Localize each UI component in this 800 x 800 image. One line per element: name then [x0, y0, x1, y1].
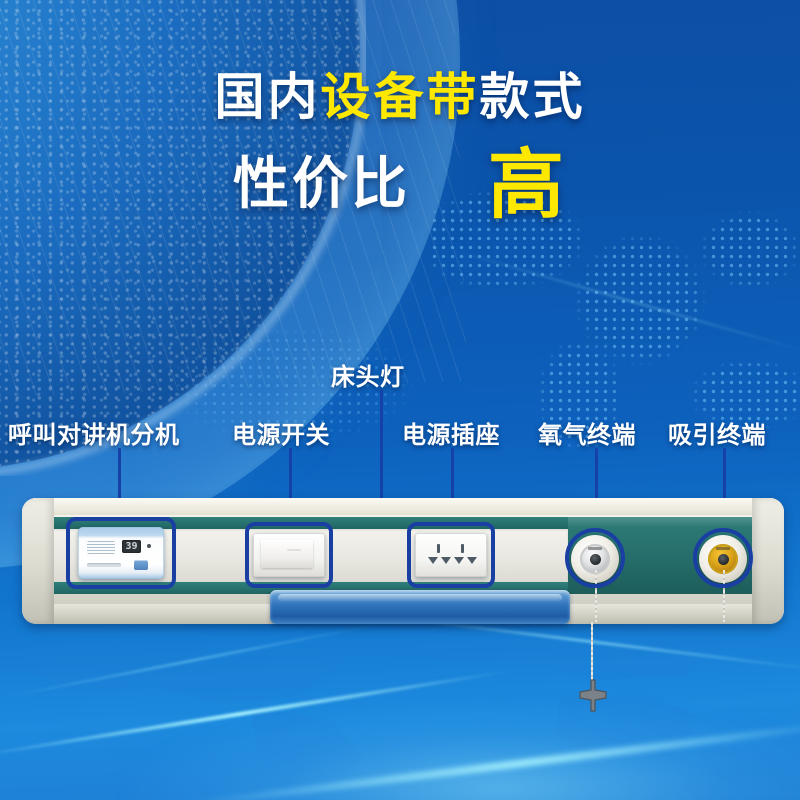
- highlight-circle-oxygen: [565, 528, 625, 588]
- panel-top-highlight: [22, 498, 784, 515]
- callout-label-suction-terminal: 吸引终端: [668, 415, 766, 450]
- highlight-box-intercom: [66, 517, 176, 589]
- highlight-box-power-switch: [245, 522, 333, 588]
- callout-label-power-switch: 电源开关: [232, 415, 330, 450]
- poster-canvas: 国内设备带款式 性价比高 呼叫对讲机分机 电源开关 床头灯 电源插座 氧气终端 …: [0, 0, 800, 800]
- callout-label-intercom: 呼叫对讲机分机: [8, 415, 180, 450]
- pull-cord-pendant-icon[interactable]: [576, 678, 610, 712]
- highlight-box-power-outlet: [407, 522, 495, 588]
- rail-gloss-highlight: [278, 594, 562, 602]
- panel-end-cap-left: [22, 498, 54, 624]
- panel-teal-block-highlight: [568, 517, 774, 527]
- highlight-circle-suction: [693, 528, 753, 588]
- callout-label-bed-lamp: 床头灯: [331, 357, 405, 392]
- callout-layer: 呼叫对讲机分机 电源开关 床头灯 电源插座 氧气终端 吸引终端: [0, 0, 800, 800]
- panel-end-cap-right: [752, 498, 784, 624]
- callout-label-oxygen-terminal: 氧气终端: [538, 415, 636, 450]
- callout-label-power-outlet: 电源插座: [402, 415, 500, 450]
- pull-cord-extension: [591, 622, 593, 684]
